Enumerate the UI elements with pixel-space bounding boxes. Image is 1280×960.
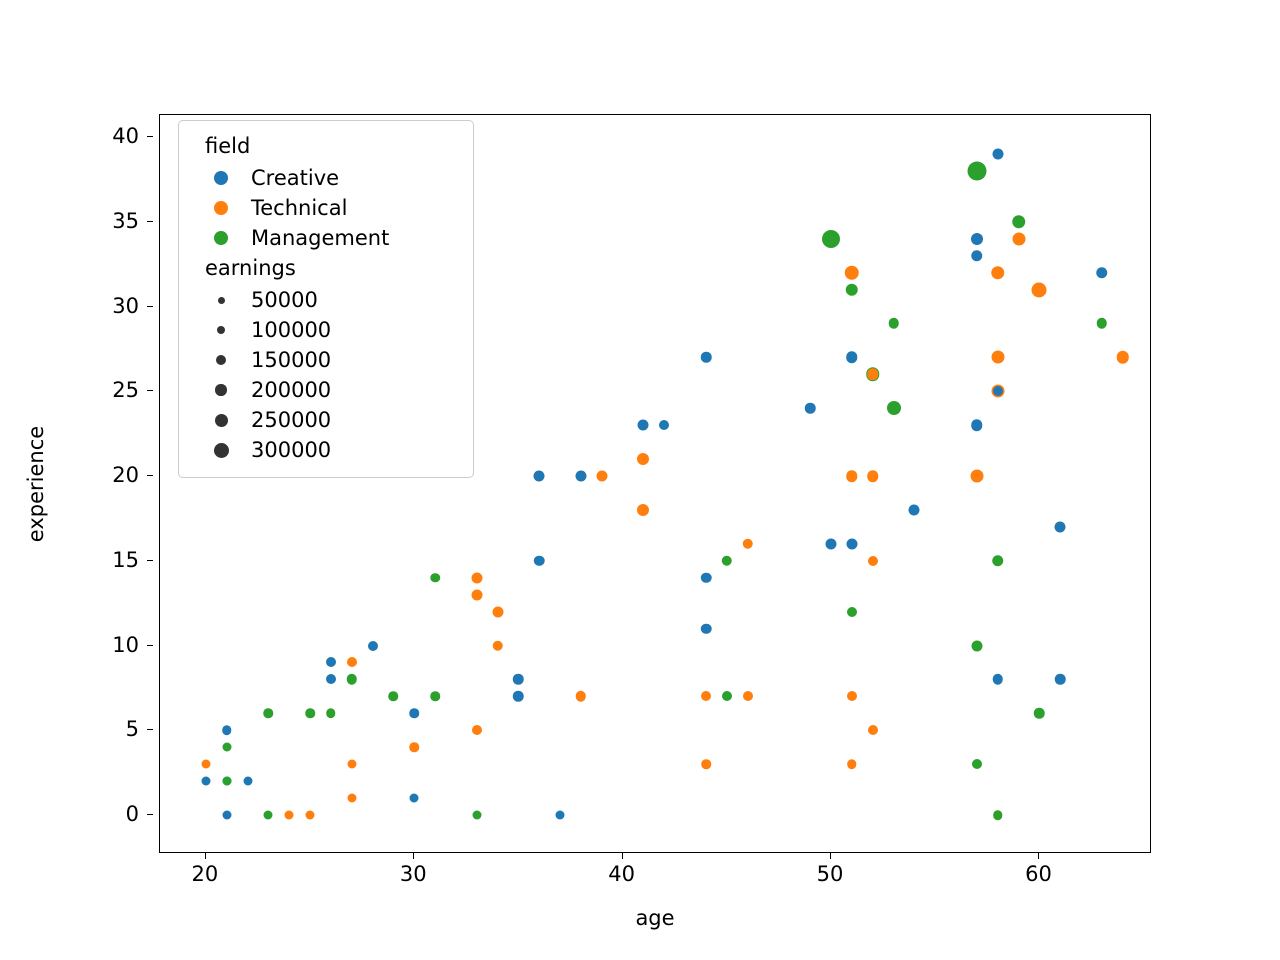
scatter-point <box>971 250 983 262</box>
legend-entry-label: Management <box>251 226 389 250</box>
scatter-point <box>847 607 857 617</box>
scatter-point <box>637 504 649 516</box>
legend-hue-row[interactable]: Technical <box>191 193 461 223</box>
scatter-point <box>471 572 482 583</box>
scatter-point <box>868 556 878 566</box>
scatter-point <box>222 743 231 752</box>
y-tick-mark <box>147 729 153 730</box>
legend-hue-title: field <box>205 131 461 161</box>
scatter-point <box>701 691 711 701</box>
y-tick-mark <box>147 221 153 222</box>
scatter-point <box>389 692 399 702</box>
scatter-point <box>867 470 879 482</box>
legend-size-row[interactable]: 200000 <box>191 375 461 405</box>
legend-entry-label: 300000 <box>251 438 331 462</box>
scatter-point <box>701 572 712 583</box>
legend-marker-icon <box>191 355 251 365</box>
scatter-point <box>222 777 231 786</box>
scatter-point <box>967 161 986 180</box>
x-tick-mark <box>413 853 414 859</box>
scatter-point <box>701 623 712 634</box>
scatter-point <box>410 794 419 803</box>
x-tick-mark <box>622 853 623 859</box>
legend-marker-icon <box>191 384 251 396</box>
scatter-point <box>222 726 232 736</box>
legend-size-row[interactable]: 250000 <box>191 405 461 435</box>
scatter-point <box>575 471 586 482</box>
scatter-point <box>430 692 440 702</box>
legend-size-row[interactable]: 50000 <box>191 285 461 315</box>
scatter-point <box>972 759 982 769</box>
x-tick-label: 20 <box>191 862 218 886</box>
scatter-point <box>867 369 879 381</box>
scatter-point <box>285 811 294 820</box>
y-axis-label: experience <box>24 426 48 542</box>
scatter-point <box>846 538 857 549</box>
scatter-point <box>326 657 336 667</box>
scatter-point <box>346 674 357 685</box>
scatter-point <box>1032 282 1047 297</box>
scatter-point <box>637 453 649 465</box>
scatter-point <box>847 759 857 769</box>
scatter-point <box>347 760 356 769</box>
y-tick-mark <box>147 645 153 646</box>
legend-size-entries: 50000100000150000200000250000300000 <box>191 285 461 465</box>
y-tick-label: 30 <box>112 294 139 318</box>
y-tick-label: 15 <box>112 548 139 572</box>
scatter-point <box>472 725 482 735</box>
scatter-point <box>909 504 920 515</box>
scatter-point <box>368 641 378 651</box>
y-tick-label: 35 <box>112 209 139 233</box>
x-tick-mark <box>1038 853 1039 859</box>
scatter-point <box>847 691 857 701</box>
scatter-point <box>243 777 252 786</box>
scatter-point <box>410 709 420 719</box>
legend-entry-label: 100000 <box>251 318 331 342</box>
scatter-plot-figure: 2030405060 0510152025303540 age experien… <box>0 0 1280 960</box>
legend-marker-icon <box>191 297 251 304</box>
scatter-point <box>743 691 753 701</box>
y-tick-label: 5 <box>126 717 139 741</box>
scatter-point <box>1096 267 1108 279</box>
scatter-point <box>993 810 1003 820</box>
x-axis-label: age <box>635 906 674 930</box>
scatter-point <box>534 556 545 567</box>
scatter-point <box>1012 232 1025 245</box>
scatter-point <box>971 419 983 431</box>
x-tick-mark <box>205 853 206 859</box>
scatter-point <box>971 640 982 651</box>
scatter-point <box>1117 351 1130 364</box>
y-tick-mark <box>147 136 153 137</box>
legend-entry-label: 150000 <box>251 348 331 372</box>
scatter-point <box>992 555 1004 567</box>
y-tick-label: 40 <box>112 124 139 148</box>
legend-marker-icon <box>191 326 251 335</box>
scatter-point <box>306 811 315 820</box>
legend-hue-entries: CreativeTechnicalManagement <box>191 163 461 253</box>
legend-hue-row[interactable]: Management <box>191 223 461 253</box>
scatter-point <box>846 283 859 296</box>
scatter-point <box>826 538 837 549</box>
y-tick-mark <box>147 560 153 561</box>
scatter-point <box>492 640 503 651</box>
scatter-point <box>638 420 649 431</box>
scatter-point <box>201 777 210 786</box>
x-tick-label: 50 <box>817 862 844 886</box>
scatter-point <box>1012 215 1026 229</box>
legend-entry-label: 200000 <box>251 378 331 402</box>
scatter-point <box>970 470 983 483</box>
scatter-point <box>305 709 315 719</box>
y-tick-label: 10 <box>112 633 139 657</box>
chart-legend[interactable]: field CreativeTechnicalManagement earnin… <box>178 120 474 478</box>
scatter-point <box>201 760 210 769</box>
scatter-point <box>888 318 899 329</box>
scatter-point <box>513 674 524 685</box>
x-tick-label: 30 <box>400 862 427 886</box>
scatter-point <box>1055 521 1066 532</box>
y-tick-mark <box>147 475 153 476</box>
legend-marker-icon <box>191 171 251 185</box>
legend-entry-label: 50000 <box>251 288 318 312</box>
scatter-point <box>576 691 587 702</box>
x-tick-label: 60 <box>1025 862 1052 886</box>
scatter-point <box>993 674 1004 685</box>
scatter-point <box>410 742 420 752</box>
scatter-point <box>722 691 732 701</box>
legend-hue-row[interactable]: Creative <box>191 163 461 193</box>
scatter-point <box>846 352 858 364</box>
y-tick-label: 25 <box>112 378 139 402</box>
y-tick-label: 0 <box>126 802 139 826</box>
legend-entry-label: 250000 <box>251 408 331 432</box>
legend-entry-label: Creative <box>251 166 339 190</box>
x-tick-mark <box>830 853 831 859</box>
scatter-point <box>430 573 440 583</box>
scatter-point <box>472 811 481 820</box>
scatter-point <box>991 351 1004 364</box>
legend-marker-icon <box>191 201 251 215</box>
scatter-point <box>846 470 858 482</box>
scatter-point <box>1034 708 1045 719</box>
scatter-point <box>492 606 503 617</box>
scatter-point <box>845 265 860 280</box>
scatter-point <box>471 589 482 600</box>
scatter-point <box>887 401 901 415</box>
y-tick-label: 20 <box>112 463 139 487</box>
scatter-point <box>534 471 545 482</box>
y-tick-mark <box>147 306 153 307</box>
scatter-point <box>993 386 1003 396</box>
scatter-point <box>822 230 840 248</box>
scatter-point <box>222 811 231 820</box>
x-tick-label: 40 <box>608 862 635 886</box>
scatter-point <box>722 556 733 567</box>
legend-marker-icon <box>191 231 251 245</box>
scatter-point <box>556 811 565 820</box>
scatter-point <box>326 709 336 719</box>
scatter-point <box>264 811 273 820</box>
y-tick-mark <box>147 390 153 391</box>
scatter-point <box>805 403 816 414</box>
scatter-point <box>991 266 1005 280</box>
legend-size-row[interactable]: 150000 <box>191 345 461 375</box>
y-tick-mark <box>147 814 153 815</box>
scatter-point <box>659 420 669 430</box>
legend-marker-icon <box>191 414 251 427</box>
scatter-point <box>1055 674 1066 685</box>
scatter-point <box>701 352 712 363</box>
scatter-point <box>971 233 983 245</box>
scatter-point <box>868 725 878 735</box>
scatter-point <box>347 657 357 667</box>
legend-entry-label: Technical <box>251 196 347 220</box>
scatter-point <box>326 674 336 684</box>
legend-marker-icon <box>191 443 251 458</box>
legend-size-row[interactable]: 100000 <box>191 315 461 345</box>
scatter-point <box>347 794 356 803</box>
scatter-point <box>513 691 524 702</box>
scatter-point <box>264 709 274 719</box>
legend-size-title: earnings <box>205 253 461 283</box>
scatter-point <box>742 539 753 550</box>
scatter-point <box>701 759 711 769</box>
scatter-point <box>992 148 1003 159</box>
scatter-point <box>1097 318 1108 329</box>
scatter-point <box>596 471 607 482</box>
legend-size-row[interactable]: 300000 <box>191 435 461 465</box>
